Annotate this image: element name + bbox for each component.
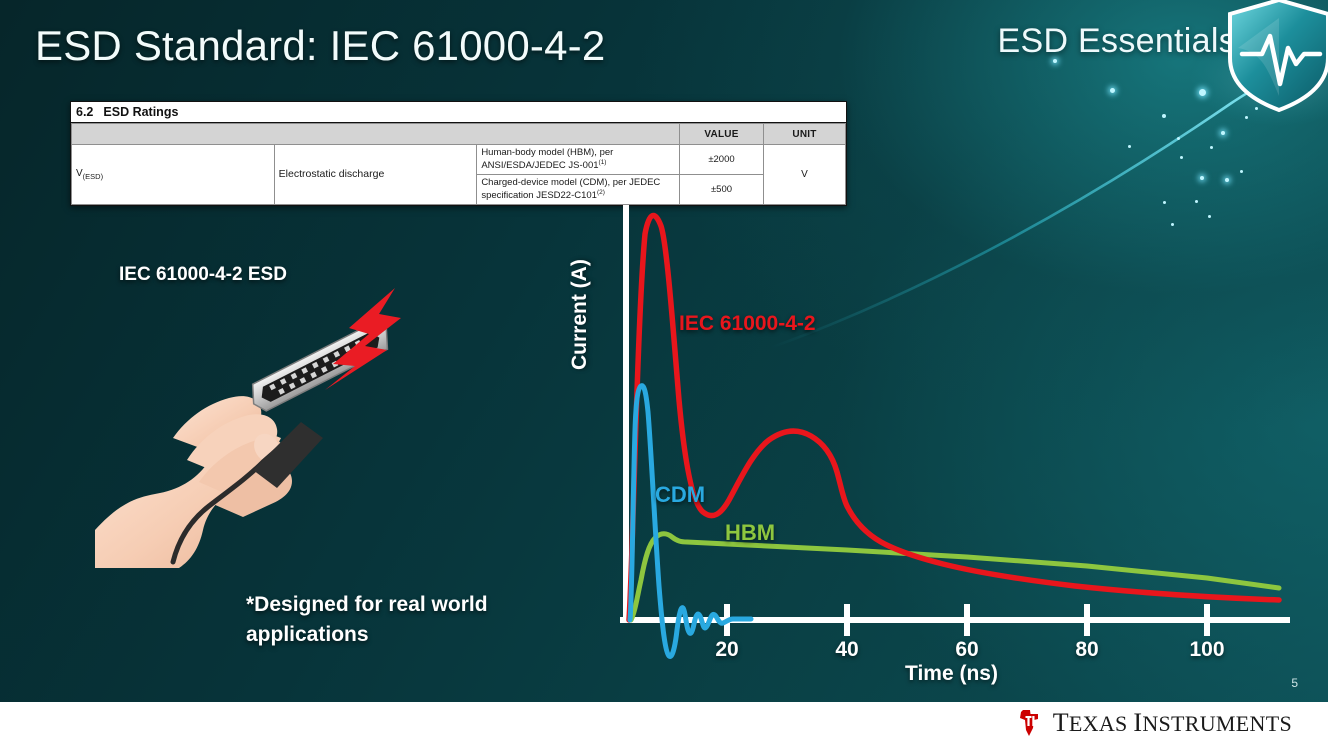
esd-waveform-chart: Current (A) Time (ns) 20 40 60 80 100 IE… xyxy=(575,200,1305,700)
footer-bar: TEXAS INSTRUMENTS xyxy=(0,702,1328,746)
x-axis-label: Time (ns) xyxy=(905,662,998,686)
description-text: Charged-device model (CDM), per JEDEC sp… xyxy=(481,177,660,201)
brand-label: ESD Essentials xyxy=(997,22,1236,61)
footnote-marker: (2) xyxy=(597,189,605,196)
x-tick-label-100: 100 xyxy=(1189,638,1224,662)
x-tick-label-60: 60 xyxy=(955,638,978,662)
company-name-nstruments: NSTRUMENTS xyxy=(1142,711,1292,736)
symbol-cell: V(ESD) xyxy=(72,145,275,205)
section-title: ESD Ratings xyxy=(103,105,178,119)
unit-cell: V xyxy=(764,145,846,205)
page-title: ESD Standard: IEC 61000-4-2 xyxy=(35,22,605,70)
sparkle-dot xyxy=(1225,178,1229,182)
sparkle-dot xyxy=(1128,145,1131,148)
x-tick-label-40: 40 xyxy=(835,638,858,662)
texas-instruments-logo-icon: TEXAS INSTRUMENTS xyxy=(1014,708,1292,738)
x-tick-label-80: 80 xyxy=(1075,638,1098,662)
company-name-t: T xyxy=(1053,708,1069,737)
company-name-i: I xyxy=(1133,708,1142,737)
header-blank-cell xyxy=(72,124,680,145)
value-cell: ±2000 xyxy=(680,145,764,175)
table-row: V(ESD) Electrostatic discharge Human-bod… xyxy=(72,145,846,175)
slide-page-number: 5 xyxy=(1291,676,1298,690)
sparkle-dot xyxy=(1221,131,1225,135)
table-section-heading: 6.2ESD Ratings xyxy=(71,102,846,123)
sparkle-dot xyxy=(1177,137,1180,140)
parameter-cell: Electrostatic discharge xyxy=(274,145,477,205)
sparkle-dot xyxy=(1245,116,1248,119)
header-value: VALUE xyxy=(680,124,764,145)
ti-texas-mark-icon xyxy=(1014,708,1044,738)
symbol-text: V xyxy=(76,168,83,179)
table-header-band-row: VALUE UNIT xyxy=(72,124,846,145)
y-axis-label: Current (A) xyxy=(568,259,592,370)
footnote-marker: (1) xyxy=(599,159,607,166)
ratings-grid: VALUE UNIT V(ESD) Electrostatic discharg… xyxy=(71,123,846,205)
company-name-exas: EXAS xyxy=(1069,711,1133,736)
curve-label-cdm: CDM xyxy=(655,482,705,508)
sparkle-dot xyxy=(1240,170,1243,173)
x-tick-label-20: 20 xyxy=(715,638,738,662)
sparkle-dot xyxy=(1110,88,1115,93)
shield-pulse-icon xyxy=(1224,0,1328,114)
chart-plot-area xyxy=(575,200,1305,670)
symbol-subscript: (ESD) xyxy=(83,172,103,181)
illustration-note: *Designed for real world applications xyxy=(246,590,546,650)
curve-iec xyxy=(629,216,1279,620)
slide-canvas: ESD Standard: IEC 61000-4-2 ESD Essentia… xyxy=(0,0,1328,746)
description-cell: Human-body model (HBM), per ANSI/ESDA/JE… xyxy=(477,145,680,175)
esd-ratings-table: 6.2ESD Ratings VALUE UNIT V(ESD) Electro… xyxy=(70,101,847,206)
sparkle-dot xyxy=(1180,156,1183,159)
sparkle-dot xyxy=(1200,176,1204,180)
sparkle-dot xyxy=(1162,114,1166,118)
curve-label-iec: IEC 61000-4-2 xyxy=(679,312,816,336)
curve-label-hbm: HBM xyxy=(725,520,775,546)
hand-holding-connector-icon xyxy=(95,262,435,572)
header-unit: UNIT xyxy=(764,124,846,145)
description-text: Human-body model (HBM), per ANSI/ESDA/JE… xyxy=(481,147,613,171)
company-name: TEXAS INSTRUMENTS xyxy=(1053,708,1292,738)
sparkle-dot xyxy=(1210,146,1213,149)
section-number: 6.2 xyxy=(76,105,93,119)
sparkle-dot xyxy=(1199,89,1206,96)
